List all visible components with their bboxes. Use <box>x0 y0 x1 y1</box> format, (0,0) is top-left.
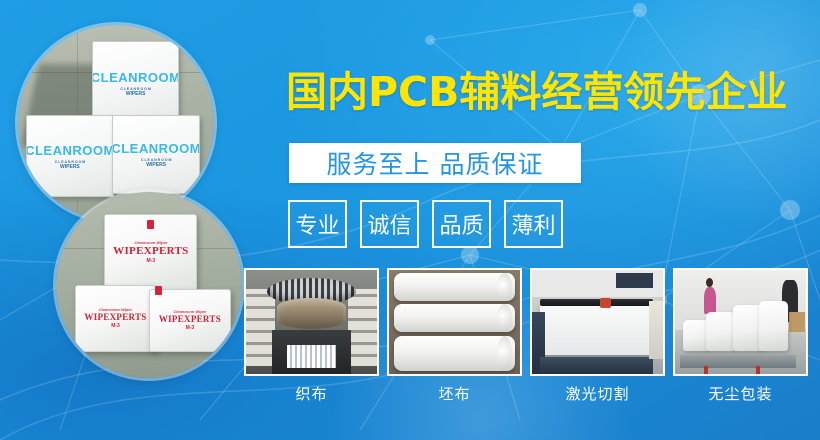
wipexperts-pack: Cleanroom Wiper WIPEXPERTS M-3 <box>149 289 231 352</box>
cleanroom-sub2-label: WIPERS <box>126 91 146 97</box>
thumbnail-caption: 无尘包装 <box>708 383 772 404</box>
cleanroom-pack: CLEANROOM C L E A N R O O M WIPERS <box>112 115 200 193</box>
wipexperts-brand-label: WIPEXPERTS <box>113 245 188 257</box>
thumbnail-image-cleanroom-packaging <box>673 268 808 376</box>
keyword-box-group: 专业 诚信 品质 薄利 <box>288 200 563 248</box>
slogan-banner: 服务至上 品质保证 <box>289 143 581 183</box>
slogan-text: 服务至上 品质保证 <box>327 145 544 181</box>
thumbnail-caption: 激光切割 <box>565 383 629 404</box>
cleanroom-brand-label: CLEANROOM <box>92 70 178 85</box>
cleanroom-sub2-label: WIPERS <box>146 162 166 168</box>
promo-banner: CLEANROOM C L E A N R O O M WIPERS CLEAN… <box>0 0 820 440</box>
thumbnail-caption: 织布 <box>295 383 327 404</box>
thumbnail-image-laser-cutting <box>530 268 665 376</box>
wipexperts-mark-label: M-3 <box>111 323 120 329</box>
cleanroom-pack: CLEANROOM C L E A N R O O M WIPERS <box>26 115 114 197</box>
keyword-box-pinzhi[interactable]: 品质 <box>432 200 491 248</box>
keyword-box-baoli[interactable]: 薄利 <box>504 200 563 248</box>
cleanroom-brand-label: CLEANROOM <box>26 143 114 158</box>
wipexperts-mark-label: M-3 <box>147 258 156 264</box>
red-stamp-icon <box>155 286 162 295</box>
product-photo-wipexperts: Cleanroom Wiper WIPEXPERTS M-3 Cleanroom… <box>56 192 242 378</box>
wipexperts-pack: Cleanroom Wiper WIPEXPERTS M-3 <box>104 214 197 290</box>
keyword-box-zhuanye[interactable]: 专业 <box>288 200 347 248</box>
process-thumbnail-laser-cutting[interactable]: 激光切割 <box>530 268 665 404</box>
wipexperts-mark-label: M-3 <box>186 325 195 331</box>
wipexperts-brand-label: WIPEXPERTS <box>159 314 221 324</box>
keyword-label: 专业 <box>295 208 339 240</box>
cleanroom-pack: CLEANROOM C L E A N R O O M WIPERS <box>92 41 178 127</box>
process-thumbnail-group: 织布 坯布 <box>244 268 808 404</box>
wipexperts-brand-label: WIPEXPERTS <box>84 312 146 322</box>
thumbnail-image-greige-fabric <box>387 268 522 376</box>
thumbnail-image-weaving <box>244 268 379 376</box>
process-thumbnail-weaving[interactable]: 织布 <box>244 268 379 404</box>
wipexperts-pack: Cleanroom Wiper WIPEXPERTS M-3 <box>75 285 157 352</box>
keyword-label: 诚信 <box>367 208 411 240</box>
cleanroom-brand-label: CLEANROOM <box>112 141 200 156</box>
keyword-label: 品质 <box>439 208 483 240</box>
process-thumbnail-cleanroom-packaging[interactable]: 无尘包装 <box>673 268 808 404</box>
thumbnail-caption: 坯布 <box>438 383 470 404</box>
keyword-label: 薄利 <box>511 208 555 240</box>
cleanroom-sub2-label: WIPERS <box>60 164 80 170</box>
red-stamp-icon <box>147 220 154 229</box>
process-thumbnail-greige-fabric[interactable]: 坯布 <box>387 268 522 404</box>
keyword-box-chengxin[interactable]: 诚信 <box>360 200 419 248</box>
headline-title: 国内PCB辅料经营领先企业 <box>286 72 787 113</box>
